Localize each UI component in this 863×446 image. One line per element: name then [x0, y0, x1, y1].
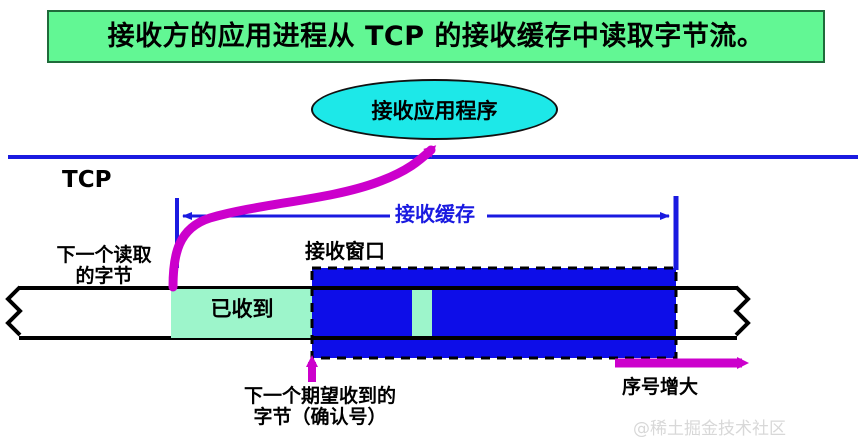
next-expected-byte-line1: 下一个期望收到的	[215, 386, 425, 407]
slide-canvas: 接收方的应用进程从 TCP 的接收缓存中读取字节流。 接收应用程序	[0, 0, 863, 446]
next-byte-to-read-line2: 的字节	[34, 266, 174, 287]
next-expected-byte-label: 下一个期望收到的 字节（确认号）	[215, 386, 425, 429]
received-segment-label: 已收到	[172, 298, 312, 322]
watermark: @稀土掘金技术社区	[633, 414, 786, 439]
next-expected-byte-line2: 字节（确认号）	[215, 407, 425, 428]
window-gap-segment	[412, 289, 432, 338]
receiving-application-label: 接收应用程序	[372, 95, 498, 125]
byte-stream-outline	[8, 287, 748, 338]
tcp-label: TCP	[62, 168, 111, 194]
sequence-increases-label: 序号增大	[622, 377, 698, 398]
receiving-application-node: 接收应用程序	[311, 79, 558, 140]
receive-window-block	[312, 268, 676, 358]
receive-window-label: 接收窗口	[305, 240, 385, 262]
next-byte-to-read-line1: 下一个读取	[34, 245, 174, 266]
receive-buffer-label: 接收缓存	[395, 203, 475, 225]
next-byte-to-read-label: 下一个读取 的字节	[34, 245, 174, 288]
read-flow-arrow	[173, 150, 431, 287]
page-title: 接收方的应用进程从 TCP 的接收缓存中读取字节流。	[108, 23, 765, 50]
title-banner: 接收方的应用进程从 TCP 的接收缓存中读取字节流。	[47, 10, 825, 63]
